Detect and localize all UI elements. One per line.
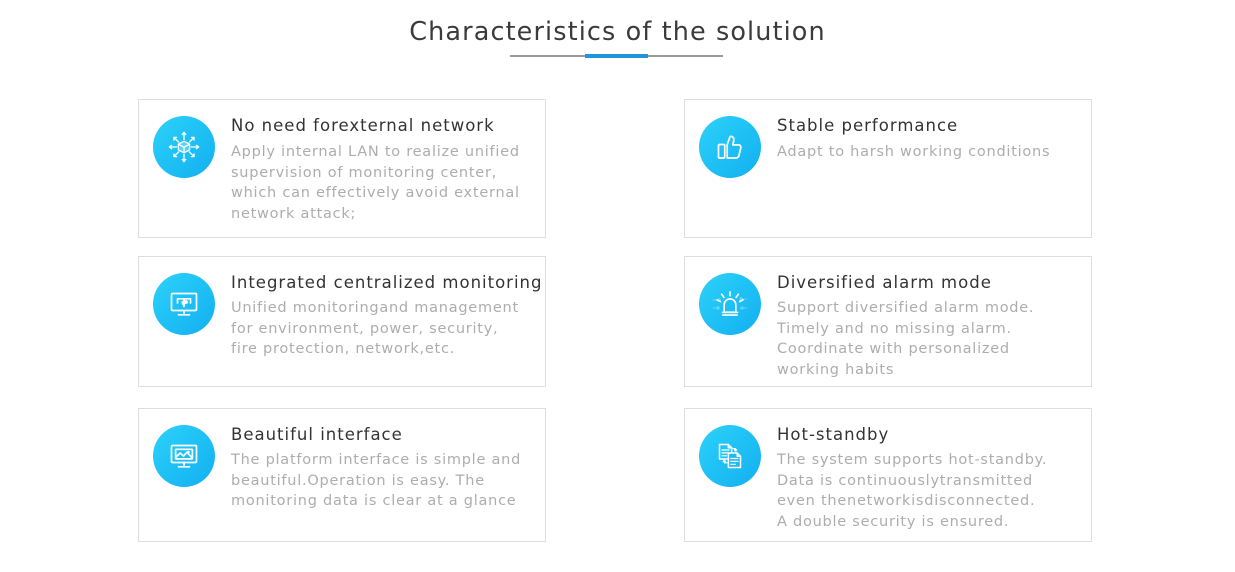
- feature-card-title: Integrated centralized monitoring: [231, 271, 545, 295]
- feature-card[interactable]: Integrated centralized monitoring Unifie…: [138, 256, 546, 387]
- feature-card[interactable]: Beautiful interface The platform interfa…: [138, 408, 546, 542]
- title-underline-accent: [585, 54, 648, 58]
- network-node-icon: [153, 116, 215, 178]
- feature-card-description: Adapt to harsh working conditions: [777, 138, 1091, 163]
- feature-card-description: Support diversified alarm mode. Timely a…: [777, 295, 1091, 380]
- feature-card[interactable]: Stable performance Adapt to harsh workin…: [684, 99, 1092, 238]
- feature-card-grid: No need forexternal network Apply intern…: [138, 99, 1092, 542]
- feature-card-description: The system supports hot-standby. Data is…: [777, 447, 1091, 532]
- feature-card-description: The platform interface is simple and bea…: [231, 447, 545, 512]
- page-title: Characteristics of the solution: [0, 0, 1235, 50]
- monitor-image-icon: [153, 425, 215, 487]
- feature-card[interactable]: Hot-standby The system supports hot-stan…: [684, 408, 1092, 542]
- page-header: Characteristics of the solution: [0, 0, 1235, 50]
- document-sync-icon: [699, 425, 761, 487]
- feature-card[interactable]: No need forexternal network Apply intern…: [138, 99, 546, 238]
- feature-card-title: No need forexternal network: [231, 114, 545, 138]
- feature-card-description: Apply internal LAN to realize unified su…: [231, 138, 545, 224]
- alarm-siren-icon: [699, 273, 761, 335]
- feature-card[interactable]: Diversified alarm mode Support diversifi…: [684, 256, 1092, 387]
- thumbs-up-icon: [699, 116, 761, 178]
- feature-card-title: Diversified alarm mode: [777, 271, 1091, 295]
- feature-card-description: Unified monitoringand management for env…: [231, 295, 545, 360]
- feature-card-title: Hot-standby: [777, 423, 1091, 447]
- monitor-network-icon: [153, 273, 215, 335]
- feature-card-title: Beautiful interface: [231, 423, 545, 447]
- feature-card-title: Stable performance: [777, 114, 1091, 138]
